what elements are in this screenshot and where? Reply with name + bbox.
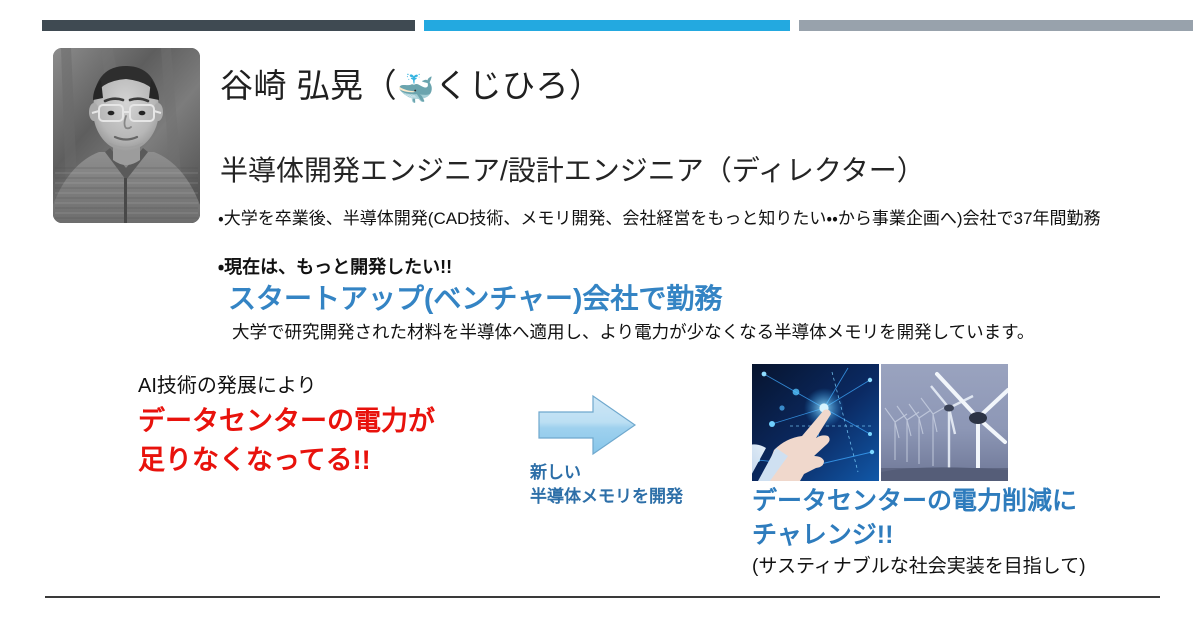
startup-highlight: スタートアップ(ベンチャー)会社で勤務 xyxy=(228,280,722,318)
person-name: 谷崎 弘晃（🐳くじひろ） xyxy=(220,64,603,112)
accent-segment-dark xyxy=(42,20,415,31)
image-network-touch xyxy=(752,364,879,481)
bottom-divider xyxy=(45,596,1160,598)
image-wind-turbines xyxy=(881,364,1008,481)
solution-note: (サスティナブルな社会実装を目指して) xyxy=(752,553,1172,580)
arrow-caption: 新しい 半導体メモリを開発 xyxy=(530,461,683,509)
solution-headline-line1: データセンターの電力削減に xyxy=(752,484,1172,518)
arrow-caption-line1: 新しい xyxy=(530,461,683,485)
accent-segment-gray xyxy=(799,20,1193,31)
problem-lead: AI技術の発展により xyxy=(138,372,478,400)
solution-headline-line2: チャレンジ!! xyxy=(752,518,1172,552)
career-summary: ・大学を卒業後、半導体開発(CAD技術、メモリ開発、会社経営をもっと知りたい・・… xyxy=(218,207,1100,231)
person-role: 半導体開発エンジニア/設計エンジニア（ディレクター） xyxy=(220,152,925,190)
accent-segment-blue xyxy=(424,20,790,31)
top-accent-bar xyxy=(0,20,1200,31)
problem-block: AI技術の発展により データセンターの電力が 足りなくなってる!! xyxy=(138,372,478,478)
work-detail: 大学で研究開発された材料を半導体へ適用し、より電力が少なくなる半導体メモリを開発… xyxy=(232,320,1034,345)
current-status-heading: ・現在は、もっと開発したい!! xyxy=(218,255,452,280)
problem-headline-line2: 足りなくなってる!! xyxy=(138,442,478,478)
portrait-photo xyxy=(53,48,200,223)
problem-headline-line1: データセンターの電力が xyxy=(138,403,478,439)
right-arrow-icon xyxy=(537,394,637,456)
person-name-handle: くじひろ） xyxy=(435,67,603,104)
solution-block: データセンターの電力削減に チャレンジ!! (サスティナブルな社会実装を目指して… xyxy=(752,484,1172,580)
person-name-prefix: 谷崎 弘晃（ xyxy=(220,67,397,104)
solution-images xyxy=(752,364,1008,481)
arrow-caption-line2: 半導体メモリを開発 xyxy=(530,485,683,509)
whale-icon: 🐳 xyxy=(397,73,435,106)
